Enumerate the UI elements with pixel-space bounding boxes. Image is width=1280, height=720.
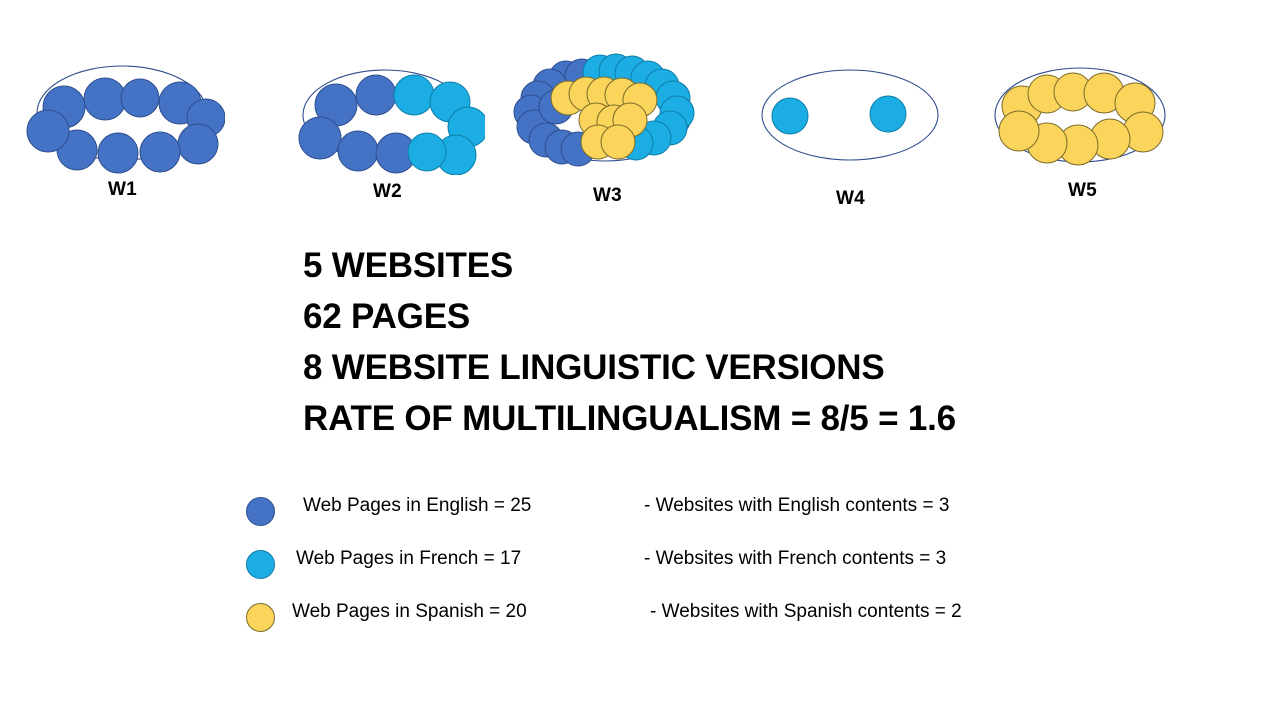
w5-diagram [985,50,1180,175]
legend-french-websites-label: - Websites with French contents = 3 [644,548,946,570]
cluster-label-w4: W4 [748,188,953,210]
w4-diagram [748,55,953,175]
w2-diagram [290,55,485,175]
legend-english-websites-label: - Websites with English contents = 3 [644,495,949,517]
summary-line-websites: 5 WEBSITES [303,240,1183,291]
cluster-label-w5: W5 [985,180,1180,202]
spanish-yellow-dot-icon [246,603,275,632]
website-cluster-row: W1 W2 [0,0,1280,225]
legend: Web Pages in English = 25 - Websites wit… [246,489,1246,648]
cluster-label-w2: W2 [290,181,485,203]
legend-english-pages-label: Web Pages in English = 25 [303,495,531,517]
cluster-label-w1: W1 [20,179,225,201]
summary-line-pages: 62 PAGES [303,291,1183,342]
legend-spanish-websites-label: - Websites with Spanish contents = 2 [650,601,962,623]
legend-spanish-pages-label: Web Pages in Spanish = 20 [292,601,527,623]
legend-french-pages-label: Web Pages in French = 17 [296,548,521,570]
website-cluster-w3: W3 [510,50,705,225]
summary-statistics-block: 5 WEBSITES 62 PAGES 8 WEBSITE LINGUISTIC… [303,240,1183,444]
w3-diagram [510,50,705,180]
legend-row-english: Web Pages in English = 25 - Websites wit… [246,489,1246,542]
english-blue-dot-icon [246,497,275,526]
w1-diagram [20,55,225,175]
summary-line-linguistic-versions: 8 WEBSITE LINGUISTIC VERSIONS [303,342,1183,393]
french-cyan-dot-icon [246,550,275,579]
website-cluster-w4: W4 [748,55,953,225]
legend-row-french: Web Pages in French = 17 - Websites with… [246,542,1246,595]
website-cluster-w2: W2 [290,55,485,225]
legend-row-spanish: Web Pages in Spanish = 20 - Websites wit… [246,595,1246,648]
website-cluster-w5: W5 [985,50,1180,220]
summary-line-rate-of-multilingualism: RATE OF MULTILINGUALISM = 8/5 = 1.6 [303,393,1183,444]
website-cluster-w1: W1 [20,55,225,225]
cluster-label-w3: W3 [510,185,705,207]
